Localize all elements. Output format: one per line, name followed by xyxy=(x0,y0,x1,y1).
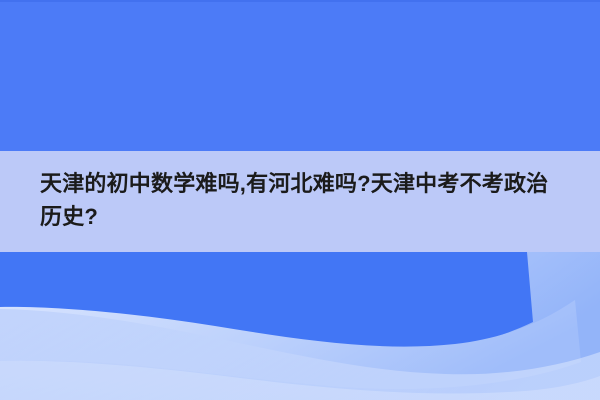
wave-decoration xyxy=(0,252,600,400)
banner-image: 天津的初中数学难吗,有河北难吗?天津中考不考政治历史? xyxy=(0,0,600,400)
page-title: 天津的初中数学难吗,有河北难吗?天津中考不考政治历史? xyxy=(40,167,560,233)
top-blue-band xyxy=(0,0,600,153)
wave-graphic-icon xyxy=(0,252,600,400)
title-band: 天津的初中数学难吗,有河北难吗?天津中考不考政治历史? xyxy=(0,151,600,252)
title-line-1: 天津的初中数学难吗,有河北难吗?天津中考 xyxy=(40,171,460,196)
